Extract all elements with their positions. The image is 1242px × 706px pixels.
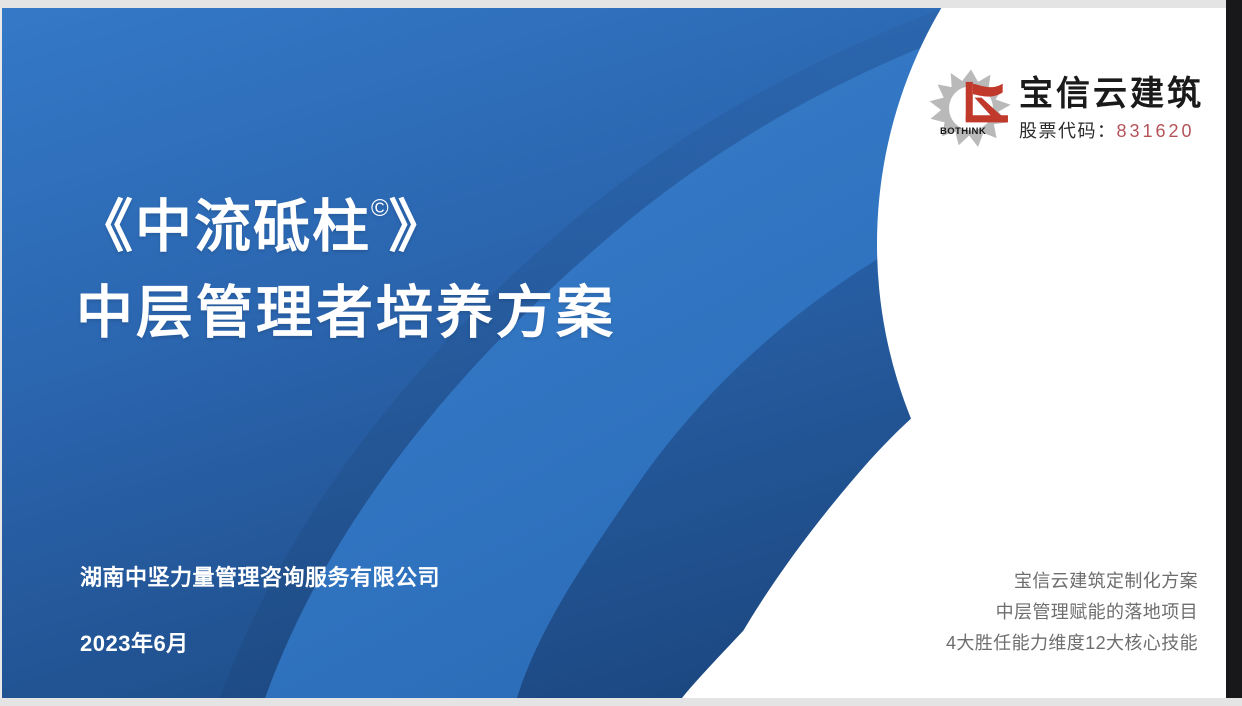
page-title-line-1: 《中流砥柱©》 (76, 196, 716, 260)
title-main-text: 《中流砥柱 (76, 195, 371, 259)
brand-logo-lockup: BOTHINK 宝信云建筑 股票代码： 831620 (927, 66, 1204, 154)
page-subtitle: 中层管理者培养方案 (76, 282, 716, 346)
copyright-symbol: © (371, 195, 389, 222)
company-name: 湖南中坚力量管理咨询服务有限公司 (80, 560, 510, 592)
presentation-slide: BOTHINK 宝信云建筑 股票代码： 831620 《中流砥柱©》 中层管理者… (2, 8, 1226, 698)
footer-right-line-1: 宝信云建筑定制化方案 (946, 566, 1198, 597)
viewer-bottom-chrome (0, 698, 1242, 706)
slide-date: 2023年6月 (80, 626, 510, 658)
bothink-wordmark: BOTHINK (940, 126, 986, 137)
footer-right-line-2: 中层管理赋能的落地项目 (946, 597, 1198, 628)
slide-footer-left: 湖南中坚力量管理咨询服务有限公司 2023年6月 (80, 560, 510, 658)
slide-title-block: 《中流砥柱©》 中层管理者培养方案 (76, 196, 716, 346)
stock-code-label: 股票代码： (1019, 117, 1117, 143)
footer-right-line-3: 4大胜任能力维度12大核心技能 (946, 628, 1198, 659)
viewer-top-chrome (0, 0, 1242, 8)
viewer-right-chrome (1226, 0, 1242, 706)
brand-text-block: 宝信云建筑 股票代码： 831620 (1019, 77, 1204, 143)
stock-code-value: 831620 (1117, 121, 1195, 142)
brand-name-cn: 宝信云建筑 (1019, 77, 1204, 112)
slide-viewer: BOTHINK 宝信云建筑 股票代码： 831620 《中流砥柱©》 中层管理者… (0, 0, 1242, 706)
bothink-starburst-logo-icon: BOTHINK (927, 66, 1015, 154)
stock-code-row: 股票代码： 831620 (1019, 117, 1204, 143)
slide-content-layer: BOTHINK 宝信云建筑 股票代码： 831620 《中流砥柱©》 中层管理者… (2, 8, 1226, 698)
title-closing-bracket: 》 (389, 195, 448, 259)
slide-footer-right: 宝信云建筑定制化方案 中层管理赋能的落地项目 4大胜任能力维度12大核心技能 (946, 566, 1198, 659)
